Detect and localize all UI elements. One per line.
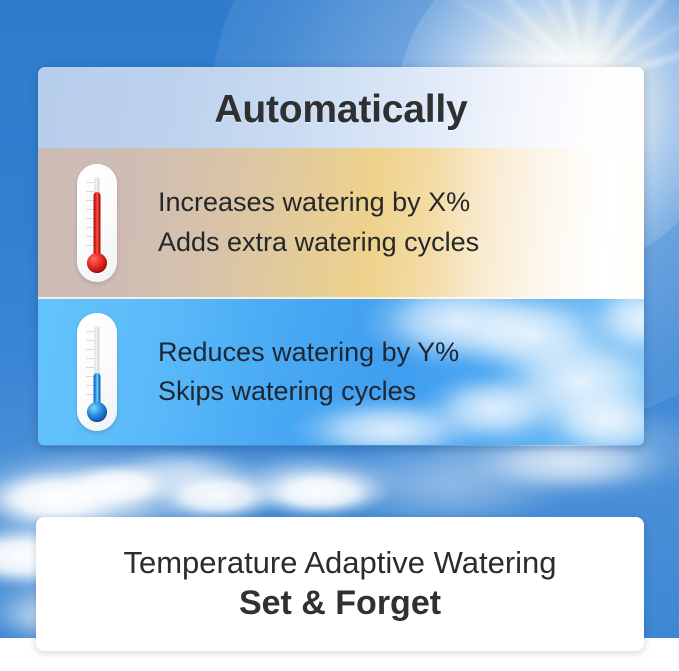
panel-title: Automatically — [214, 88, 467, 132]
hot-weather-row: Increases watering by X% Adds extra wate… — [38, 148, 644, 299]
cloud-shape — [446, 299, 616, 381]
caption-card: Temperature Adaptive Watering Set & Forg… — [36, 517, 644, 651]
cloud-shape — [150, 470, 285, 522]
cold-line-2: Skips watering cycles — [158, 372, 459, 411]
thermometer-mercury-hot — [94, 192, 101, 260]
cold-line-1: Reduces watering by Y% — [158, 333, 459, 372]
cloud-shape — [215, 452, 405, 514]
thermometer-bulb-cold — [87, 402, 107, 422]
cold-thermometer-slot — [38, 313, 156, 431]
hot-line-2: Adds extra watering cycles — [158, 223, 479, 262]
cloud-shape — [490, 327, 644, 437]
cold-weather-row: Reduces watering by Y% Skips watering cy… — [38, 299, 644, 445]
cloud-shape — [58, 462, 178, 510]
thermometer-bulb-hot — [87, 253, 107, 273]
cold-weather-text: Reduces watering by Y% Skips watering cy… — [156, 333, 459, 412]
thermometer-hot-icon — [77, 164, 117, 282]
hot-weather-text: Increases watering by X% Adds extra wate… — [156, 183, 479, 262]
hot-thermometer-slot — [38, 164, 156, 282]
cloud-shape — [583, 299, 644, 359]
cloud-shape — [96, 448, 271, 502]
panel-header: Automatically — [38, 67, 644, 148]
cloud-shape — [330, 440, 570, 526]
cloud-shape — [250, 468, 390, 518]
screenshot-root: Automatically Increases watering by X% A… — [0, 0, 679, 671]
caption-primary-text: Temperature Adaptive Watering — [123, 545, 556, 582]
caption-tagline-text: Set & Forget — [239, 583, 441, 623]
thermometer-cold-icon — [77, 313, 117, 431]
cloud-shape — [538, 385, 644, 445]
feature-panel: Automatically Increases watering by X% A… — [38, 67, 644, 446]
hot-line-1: Increases watering by X% — [158, 183, 479, 222]
